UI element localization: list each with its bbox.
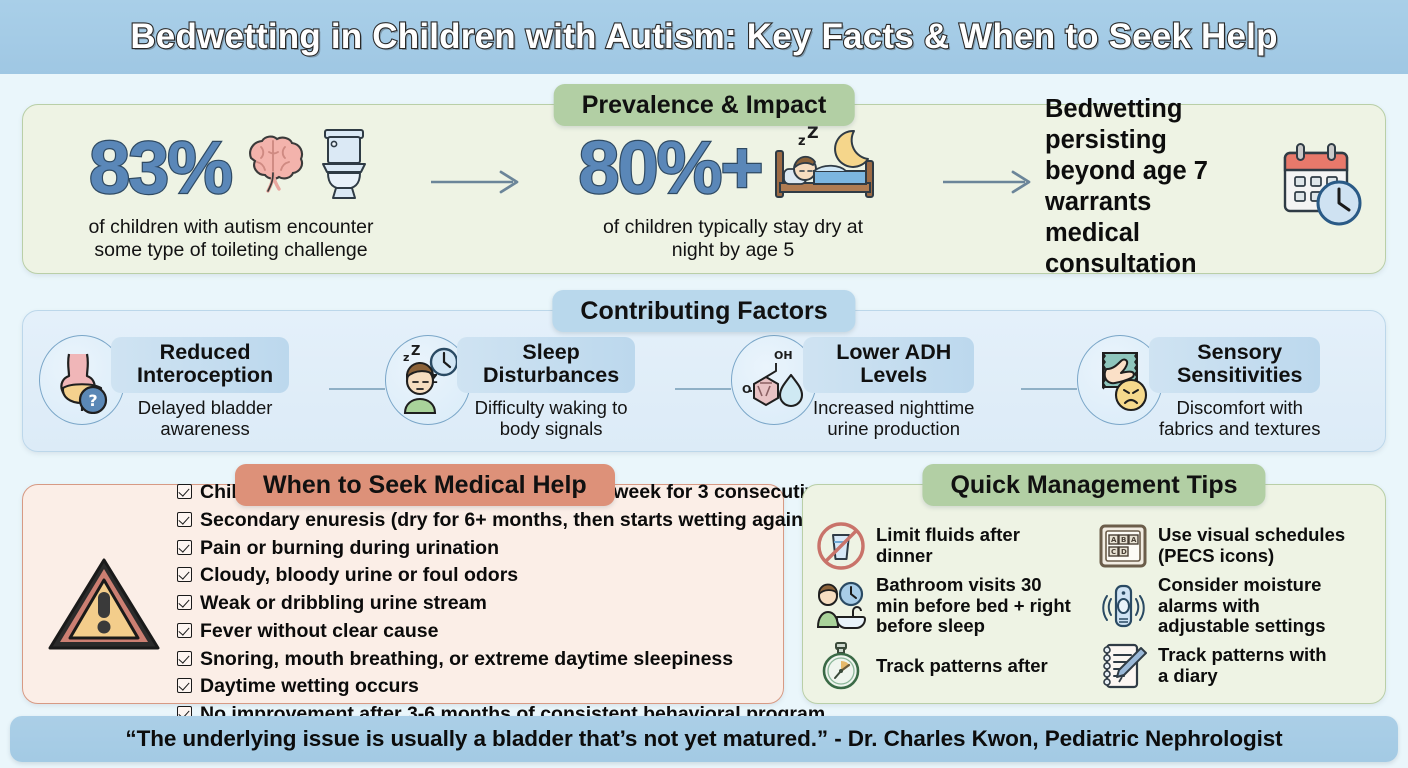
factor-subtitle: Discomfort with fabrics and textures (1149, 397, 1320, 439)
svg-text:A: A (1131, 536, 1137, 544)
svg-text:z: z (403, 351, 409, 364)
prevalence-statement-block: Bedwetting persisting beyond age 7 warra… (1045, 94, 1367, 281)
tip-label: Limit fluids after dinner (876, 525, 1020, 567)
calendar-clock-icon (1271, 139, 1367, 236)
tip-label: Use visual schedules (PECS icons) (1158, 525, 1345, 567)
stat-block-80: 80%+ z Z (533, 125, 933, 261)
section-badge-tips: Quick Management Tips (922, 464, 1265, 506)
sleeping-child-in-bed-icon: z Z (770, 125, 888, 210)
factor-connector-2 (675, 388, 731, 390)
svg-text:C: C (1111, 548, 1116, 556)
factor-item-lower-adh[interactable]: OH O Lower ADH Levels Increased nighttim… (731, 331, 1021, 439)
checklist-label: Fever without clear cause (200, 618, 438, 646)
tip-item-track-patterns-after[interactable]: Track patterns after (815, 637, 1091, 695)
checkbox-icon[interactable] (177, 651, 192, 666)
checklist-label: Cloudy, bloody urine or foul odors (200, 562, 518, 590)
tip-item-track-with-diary[interactable]: Track patterns with a diary (1097, 637, 1373, 695)
factor-title: Sensory Sensitivities (1149, 337, 1320, 393)
contributing-factors-panel: Contributing Factors ? Reduced Interocep… (22, 310, 1386, 452)
section-badge-prevalence: Prevalence & Impact (554, 84, 855, 126)
factor-subtitle: Delayed bladder awareness (111, 397, 289, 439)
brain-icon (239, 132, 307, 203)
checklist-item[interactable]: Snoring, mouth breathing, or extreme day… (177, 646, 903, 674)
section-badge-factors: Contributing Factors (552, 290, 855, 332)
tip-item-moisture-alarms[interactable]: Consider moisture alarms with adjustable… (1097, 575, 1373, 638)
tip-item-limit-fluids[interactable]: Limit fluids after dinner (815, 517, 1091, 575)
checklist-label: Daytime wetting occurs (200, 673, 419, 701)
checkbox-icon[interactable] (177, 623, 192, 638)
checklist-item[interactable]: Weak or dribbling urine stream (177, 590, 903, 618)
tip-label: Track patterns with a diary (1158, 645, 1327, 687)
section-badge-seek-help: When to Seek Medical Help (235, 464, 615, 506)
tip-item-bathroom-visits[interactable]: Bathroom visits 30 min before bed + righ… (815, 575, 1091, 638)
factor-connector-3 (1021, 388, 1077, 390)
checkbox-icon[interactable] (177, 540, 192, 555)
factor-item-sleep-disturbances[interactable]: z Z z Z Sleep Disturbances Difficulty wa… (385, 331, 675, 439)
svg-text:D: D (1121, 548, 1127, 556)
header-banner: Bedwetting in Children with Autism: Key … (0, 0, 1408, 74)
checklist-item[interactable]: Pain or burning during urination (177, 535, 903, 563)
notepad-pen-icon (1097, 641, 1149, 691)
factor-connector-1 (329, 388, 385, 390)
tip-label: Bathroom visits 30 min before bed + righ… (876, 575, 1071, 638)
tip-item-visual-schedules[interactable]: ABA CD Use visual schedules (PECS icons) (1097, 517, 1373, 575)
seek-help-panel: When to Seek Medical Help Child is over … (22, 484, 784, 704)
factor-item-reduced-interoception[interactable]: ? Reduced Interoception Delayed bladder … (39, 331, 329, 439)
checklist-label: Snoring, mouth breathing, or extreme day… (200, 646, 733, 674)
factor-title: Sleep Disturbances (457, 337, 635, 393)
checklist-label: Weak or dribbling urine stream (200, 590, 487, 618)
svg-text:B: B (1121, 536, 1126, 544)
checklist-item[interactable]: Secondary enuresis (dry for 6+ months, t… (177, 507, 903, 535)
seek-help-checklist: Child is over age 7 AND wets bed at leas… (177, 479, 903, 728)
prevalence-panel: Prevalence & Impact 83% (22, 104, 1386, 274)
crescent-moon-icon (835, 131, 868, 167)
svg-text:OH: OH (774, 349, 793, 362)
stat-block-83: 83% (41, 125, 421, 261)
stat-caption-83: of children with autism encounter some t… (41, 216, 421, 261)
warning-triangle-icon (31, 552, 177, 656)
factor-title: Reduced Interoception (111, 337, 289, 393)
factor-title: Lower ADH Levels (803, 337, 974, 393)
checkbox-icon[interactable] (177, 595, 192, 610)
checkbox-icon[interactable] (177, 512, 192, 527)
no-drink-icon (815, 521, 867, 571)
child-bathroom-clock-icon (815, 581, 867, 631)
svg-text:O: O (742, 383, 751, 396)
factor-subtitle: Difficulty waking to body signals (457, 397, 635, 439)
checklist-label: Secondary enuresis (dry for 6+ months, t… (200, 507, 810, 535)
moisture-alarm-icon (1097, 581, 1149, 631)
checklist-item[interactable]: Cloudy, bloody urine or foul odors (177, 562, 903, 590)
footer-quote-bar: “The underlying issue is usually a bladd… (10, 716, 1398, 762)
checkbox-icon[interactable] (177, 567, 192, 582)
stat-value-83: 83% (89, 131, 231, 205)
stopwatch-icon (815, 641, 867, 691)
management-tips-panel: Quick Management Tips Limit fluids after… (802, 484, 1386, 704)
stat-value-80: 80%+ (578, 131, 761, 205)
stat-caption-80: of children typically stay dry at night … (533, 216, 933, 261)
svg-text:Z: Z (807, 125, 819, 142)
checkbox-icon[interactable] (177, 678, 192, 693)
svg-text:Z: Z (411, 345, 420, 359)
factor-subtitle: Increased nighttime urine production (803, 397, 974, 439)
checkbox-icon[interactable] (177, 484, 192, 499)
checklist-item[interactable]: Fever without clear cause (177, 618, 903, 646)
right-arrow-icon (421, 169, 533, 200)
svg-text:?: ? (88, 391, 97, 410)
svg-text:z: z (798, 134, 806, 149)
footer-quote-text: “The underlying issue is usually a bladd… (125, 726, 1282, 752)
factor-item-sensory-sensitivities[interactable]: Sensory Sensitivities Discomfort with fa… (1077, 331, 1369, 439)
svg-text:A: A (1111, 536, 1117, 544)
pecs-board-icon: ABA CD (1097, 521, 1149, 571)
tip-label: Track patterns after (876, 656, 1048, 677)
tip-label: Consider moisture alarms with adjustable… (1158, 575, 1326, 638)
prevalence-statement: Bedwetting persisting beyond age 7 warra… (1045, 94, 1257, 281)
toilet-icon (315, 126, 373, 209)
right-arrow-icon-2 (933, 169, 1045, 200)
checklist-item[interactable]: Daytime wetting occurs (177, 673, 903, 701)
page-title: Bedwetting in Children with Autism: Key … (130, 17, 1277, 57)
checklist-label: Pain or burning during urination (200, 535, 499, 563)
